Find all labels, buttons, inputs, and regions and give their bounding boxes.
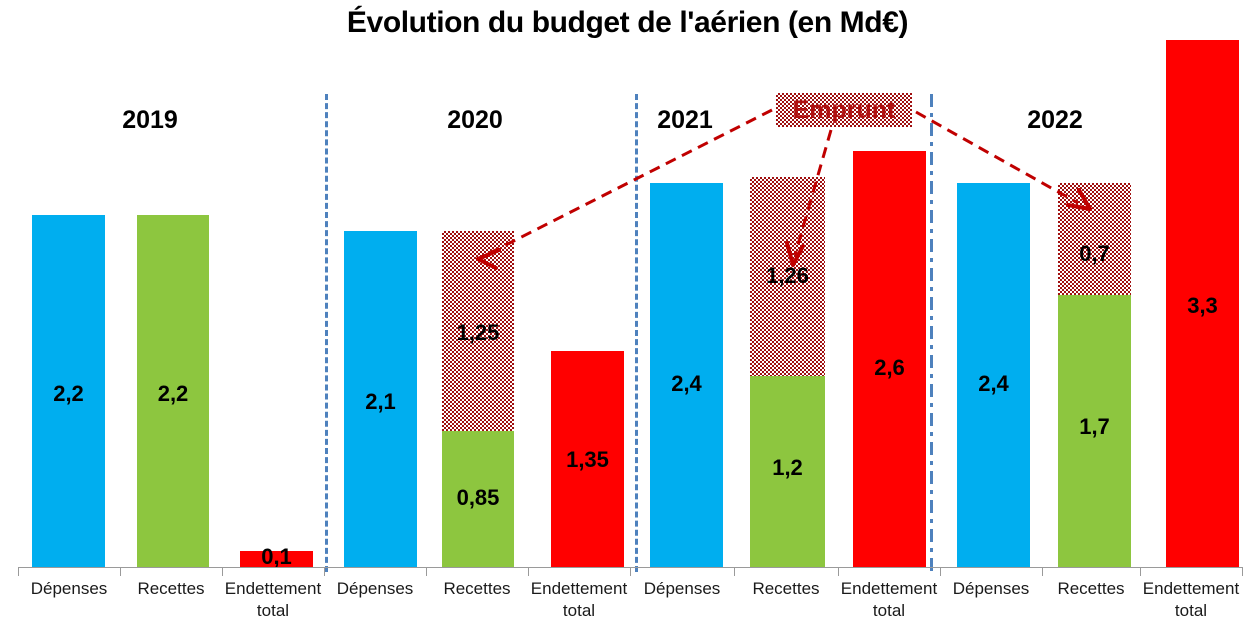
axis-label-2022-recettes: Recettes — [1042, 578, 1140, 600]
bar-2020-recettes[interactable] — [442, 431, 514, 567]
axis-label-2019-depenses: Dépenses — [18, 578, 120, 600]
bar-2020-depenses[interactable] — [344, 231, 417, 567]
bar-2019-endettement[interactable] — [240, 551, 313, 567]
axis-tick-8 — [838, 567, 839, 576]
axis-tick-9 — [940, 567, 941, 576]
axis-label-2020-recettes: Recettes — [426, 578, 528, 600]
emprunt-callout-box[interactable]: Emprunt — [776, 93, 912, 127]
axis-label-2020-endettement: Endettement total — [528, 578, 630, 622]
bar-2022-recettes[interactable] — [1058, 295, 1131, 567]
bar-2022-endettement[interactable] — [1166, 40, 1239, 567]
axis-tick-1 — [120, 567, 121, 576]
axis-tick-5 — [528, 567, 529, 576]
bar-2022-depenses[interactable] — [957, 183, 1030, 567]
bar-2019-recettes[interactable] — [137, 215, 209, 567]
plot-area: 2,2 2,2 0,1 2,1 0,85 1,25 1,35 2,4 1,2 1… — [0, 0, 1255, 631]
axis-label-2022-endettement: Endettement total — [1140, 578, 1242, 622]
axis-label-2022-depenses: Dépenses — [940, 578, 1042, 600]
group-separator-2020-2021 — [635, 94, 638, 572]
group-separator-2019-2020 — [325, 94, 328, 572]
bar-2020-emprunt[interactable] — [442, 231, 514, 431]
group-separator-2021-2022 — [930, 94, 933, 572]
axis-tick-6 — [630, 567, 631, 576]
bar-2021-emprunt[interactable] — [750, 177, 825, 376]
axis-label-2020-depenses: Dépenses — [324, 578, 426, 600]
axis-label-2019-endettement: Endettement total — [222, 578, 324, 622]
bar-2021-depenses[interactable] — [650, 183, 723, 567]
bar-2020-endettement[interactable] — [551, 351, 624, 567]
axis-tick-4 — [426, 567, 427, 576]
chart-root: Évolution du budget de l'aérien (en Md€)… — [0, 0, 1255, 631]
axis-tick-2 — [222, 567, 223, 576]
axis-tick-11 — [1140, 567, 1141, 576]
bar-2019-depenses[interactable] — [32, 215, 105, 567]
bar-2021-recettes[interactable] — [750, 376, 825, 567]
axis-tick-3 — [324, 567, 325, 576]
axis-label-2021-recettes: Recettes — [734, 578, 838, 600]
axis-tick-0 — [18, 567, 19, 576]
axis-label-2019-recettes: Recettes — [120, 578, 222, 600]
bar-2021-endettement[interactable] — [853, 151, 926, 567]
axis-label-2021-endettement: Endettement total — [838, 578, 940, 622]
axis-tick-7 — [734, 567, 735, 576]
bar-2022-emprunt[interactable] — [1058, 183, 1131, 295]
axis-tick-12 — [1242, 567, 1243, 576]
axis-tick-10 — [1042, 567, 1043, 576]
emprunt-callout-label: Emprunt — [793, 96, 896, 125]
axis-label-2021-depenses: Dépenses — [630, 578, 734, 600]
